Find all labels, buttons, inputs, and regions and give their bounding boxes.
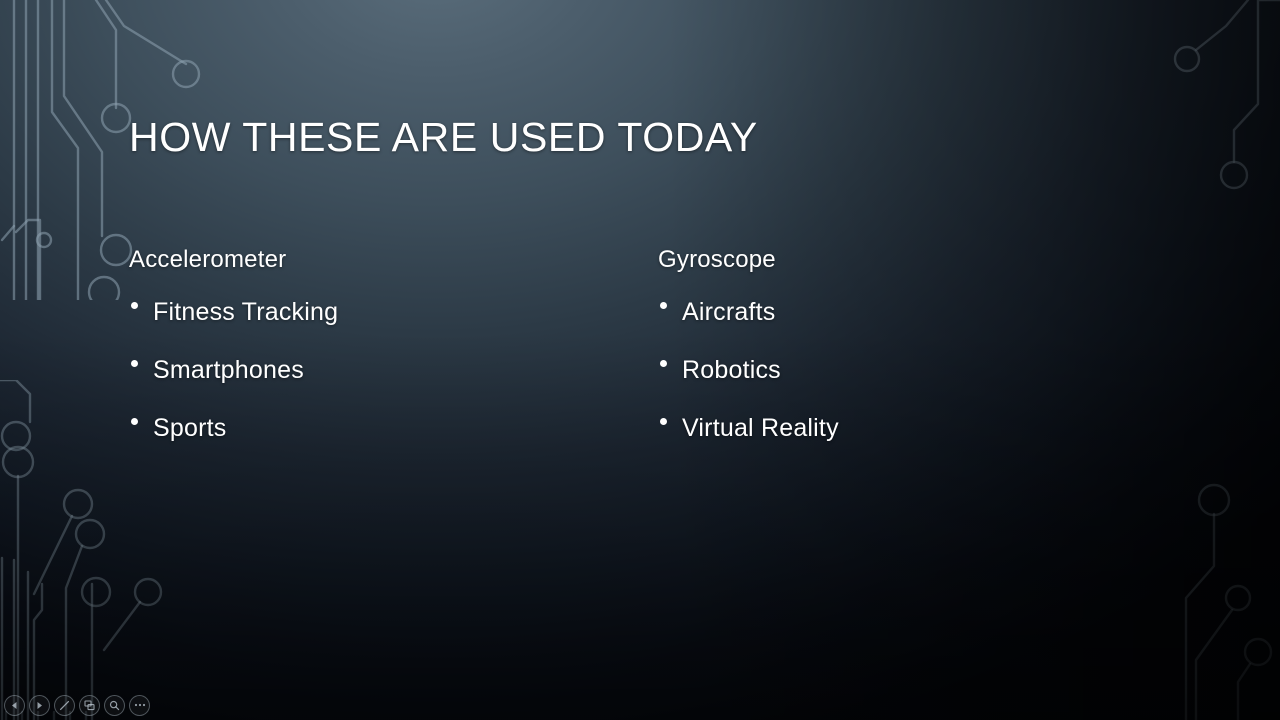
bullet-dot-icon	[131, 360, 138, 367]
magnifier-icon	[109, 700, 120, 711]
slide-title: HOW THESE ARE USED TODAY	[129, 114, 758, 161]
list-item-label: Sports	[153, 414, 226, 442]
list-item: Sports	[129, 416, 599, 441]
list-item: Robotics	[658, 358, 1128, 383]
content-column-gyroscope: Gyroscope Aircrafts Robotics Virtual Rea…	[658, 246, 1128, 441]
all-slides-button[interactable]	[79, 695, 100, 716]
presentation-toolbar[interactable]	[0, 692, 156, 720]
list-item: Aircrafts	[658, 300, 1128, 325]
list-item-label: Aircrafts	[682, 298, 775, 326]
column-heading: Accelerometer	[129, 246, 599, 274]
pen-tool-button[interactable]	[54, 695, 75, 716]
list-item-label: Robotics	[682, 356, 781, 384]
next-slide-button[interactable]	[29, 695, 50, 716]
bullet-list-gyroscope: Aircrafts Robotics Virtual Reality	[658, 300, 1128, 441]
bullet-dot-icon	[660, 418, 667, 425]
triangle-right-icon	[35, 701, 44, 710]
list-item: Smartphones	[129, 358, 599, 383]
presentation-slide: HOW THESE ARE USED TODAY Accelerometer F…	[0, 0, 1280, 720]
list-item-label: Virtual Reality	[682, 414, 839, 442]
slide-content: HOW THESE ARE USED TODAY Accelerometer F…	[0, 0, 1280, 720]
zoom-button[interactable]	[104, 695, 125, 716]
list-item: Fitness Tracking	[129, 300, 599, 325]
list-item-label: Smartphones	[153, 356, 304, 384]
bullet-dot-icon	[131, 302, 138, 309]
triangle-left-icon	[10, 701, 19, 710]
previous-slide-button[interactable]	[4, 695, 25, 716]
list-item-label: Fitness Tracking	[153, 298, 338, 326]
pen-icon	[59, 700, 70, 711]
grid-slides-icon	[84, 700, 95, 711]
column-heading: Gyroscope	[658, 246, 1128, 274]
list-item: Virtual Reality	[658, 416, 1128, 441]
bullet-dot-icon	[660, 302, 667, 309]
bullet-dot-icon	[131, 418, 138, 425]
more-options-button[interactable]	[129, 695, 150, 716]
ellipsis-icon	[134, 703, 146, 707]
bullet-dot-icon	[660, 360, 667, 367]
bullet-list-accelerometer: Fitness Tracking Smartphones Sports	[129, 300, 599, 441]
content-column-accelerometer: Accelerometer Fitness Tracking Smartphon…	[129, 246, 599, 441]
